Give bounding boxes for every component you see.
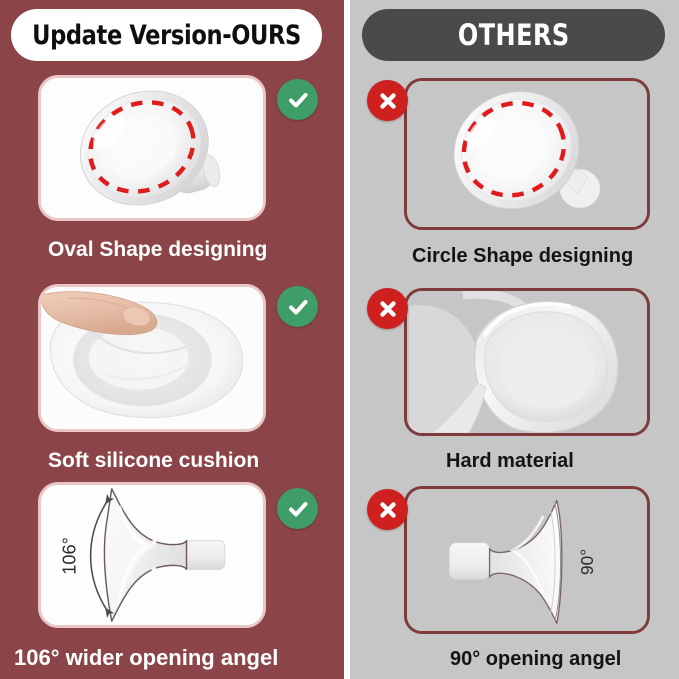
ours-caption-oval-shape: Oval Shape designing (48, 238, 267, 262)
hard-funnel-illustration (407, 291, 647, 433)
check-icon-oval-shape (277, 79, 318, 120)
ours-image-card-opening-angle: 106° (38, 482, 266, 628)
cross-icon-circle-shape (367, 80, 408, 121)
cross-icon-opening-angle (367, 489, 408, 530)
others-image-card-opening-angle: 90° (404, 486, 650, 634)
flange-oval-illustration (41, 78, 263, 218)
ours-panel: Update Version-OURS (0, 0, 344, 679)
ours-caption-opening-angle: 106° wider opening angel (14, 645, 278, 671)
others-caption-circle-shape: Circle Shape designing (412, 245, 633, 268)
cross-icon-hard-material (367, 288, 408, 329)
check-icon-opening-angle (277, 488, 318, 529)
ours-header-label: Update Version-OURS (32, 20, 301, 51)
others-header-label: OTHERS (458, 18, 570, 52)
ours-image-card-oval-shape (38, 75, 266, 221)
angle-value-text: 106° (59, 537, 79, 575)
others-image-card-circle-shape (404, 78, 650, 230)
others-image-card-hard-material (404, 288, 650, 436)
angle-value-text: 90° (577, 549, 597, 575)
flange-circle-illustration (407, 81, 647, 227)
flange-angle-106-illustration: 106° (41, 485, 263, 625)
check-icon-soft-cushion (277, 286, 318, 327)
others-caption-opening-angle: 90° opening angel (450, 648, 621, 671)
flange-angle-90-illustration: 90° (407, 489, 647, 631)
others-caption-hard-material: Hard material (446, 450, 574, 473)
ours-caption-soft-cushion: Soft silicone cushion (48, 449, 259, 473)
comparison-infographic: Update Version-OURS (0, 0, 679, 679)
hand-pressing-cushion-illustration (41, 287, 263, 429)
ours-header-pill: Update Version-OURS (11, 9, 322, 61)
ours-image-card-soft-cushion (38, 284, 266, 432)
others-header-pill: OTHERS (362, 9, 665, 61)
